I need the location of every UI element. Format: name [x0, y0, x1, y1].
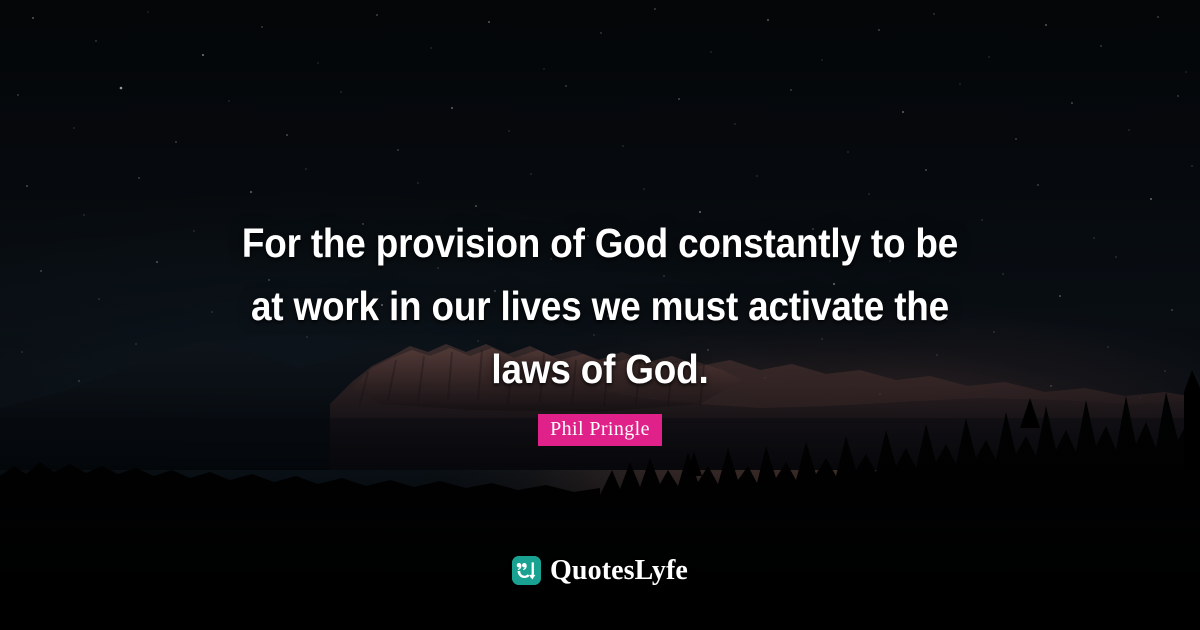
- quote-card: For the provision of God constantly to b…: [0, 0, 1200, 630]
- quote-text: For the provision of God constantly to b…: [60, 212, 1140, 401]
- brand-logo[interactable]: QuotesLyfe: [0, 556, 1200, 585]
- brand-name: QuotesLyfe: [550, 557, 688, 585]
- author-name-badge[interactable]: Phil Pringle: [538, 414, 662, 446]
- card-content: For the provision of God constantly to b…: [0, 0, 1200, 630]
- author-badge-wrapper: Phil Pringle: [0, 414, 1200, 446]
- quote-smiley-icon: [512, 556, 541, 585]
